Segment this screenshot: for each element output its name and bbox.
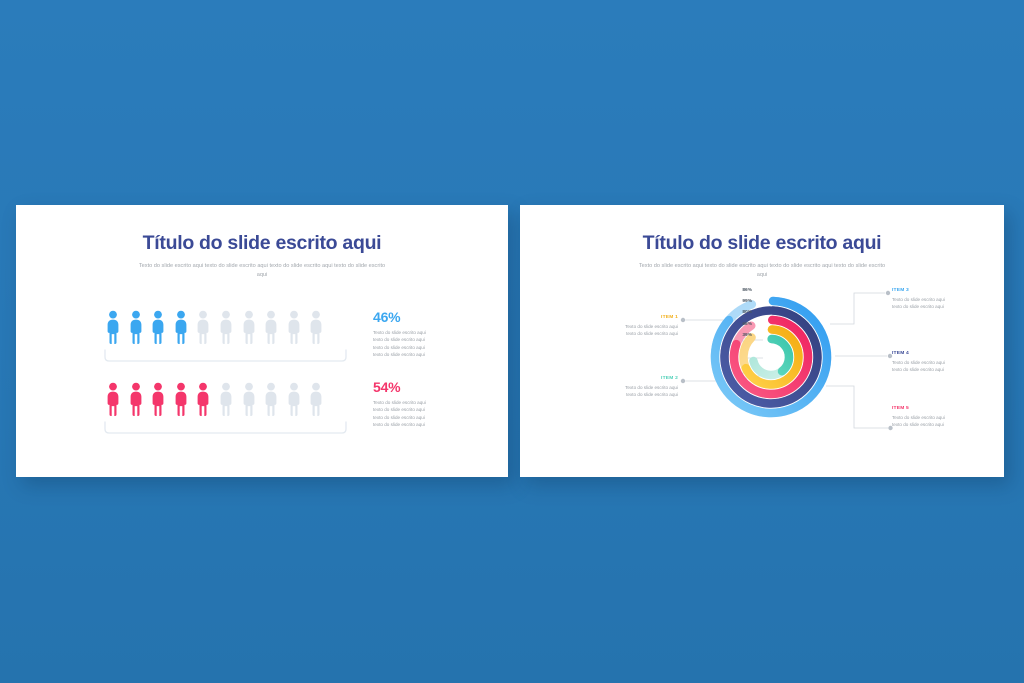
- stat-percent: 46%: [373, 310, 426, 324]
- person-icon: [262, 379, 280, 419]
- page-subtitle: Texto do slide escrito aqui texto do sli…: [637, 262, 887, 279]
- page-title: Título do slide escrito aqui: [520, 232, 1004, 255]
- person-icon: [240, 307, 258, 347]
- stat-description: Texto do slide escrito aqui texto do sli…: [373, 399, 426, 429]
- person-icon: [217, 307, 235, 347]
- person-icon: [149, 307, 167, 347]
- value-label: 39%: [730, 334, 752, 345]
- value-label-list: 86% 99% 80% 68% 39%: [730, 289, 752, 345]
- callout-item-1[interactable]: ITEM 1 Texto do slide escrito aqui texto…: [570, 315, 678, 338]
- person-icon: [104, 307, 122, 347]
- callout-title: ITEM 3: [892, 288, 1000, 293]
- page-subtitle: Texto do slide escrito aqui texto do sli…: [137, 262, 387, 279]
- person-icon: [194, 379, 212, 419]
- person-icon: [262, 307, 280, 347]
- row-bracket: [104, 421, 347, 434]
- people-row: [104, 305, 347, 347]
- stat-block-blue: 46% Texto do slide escrito aqui texto do…: [373, 310, 426, 359]
- callout-body: Texto do slide escrito aqui texto do sli…: [892, 296, 1000, 311]
- person-icon: [104, 379, 122, 419]
- person-icon: [194, 307, 212, 347]
- people-row: [104, 377, 347, 419]
- person-icon: [240, 379, 258, 419]
- callout-body: Texto do slide escrito aqui texto do sli…: [570, 323, 678, 338]
- callout-title: ITEM 2: [570, 376, 678, 381]
- callout-body: Texto do slide escrito aqui texto do sli…: [892, 414, 1000, 429]
- callout-title: ITEM 4: [892, 351, 1000, 356]
- radial-bar-chart: [706, 279, 836, 434]
- stat-percent: 54%: [373, 380, 426, 394]
- callout-item-2[interactable]: ITEM 2 Texto do slide escrito aqui texto…: [570, 376, 678, 399]
- value-label: 80%: [730, 311, 752, 322]
- callout-item-4[interactable]: ITEM 4 Texto do slide escrito aqui texto…: [892, 351, 1000, 374]
- presentation-canvas: Título do slide escrito aqui Texto do sl…: [0, 0, 1024, 683]
- person-icon: [172, 379, 190, 419]
- person-icon: [127, 379, 145, 419]
- row-bracket: [104, 349, 347, 362]
- person-icon: [307, 307, 325, 347]
- stat-block-pink: 54% Texto do slide escrito aqui texto do…: [373, 380, 426, 429]
- leader-line-item-3: [830, 290, 892, 325]
- person-icon: [127, 307, 145, 347]
- callout-item-3[interactable]: ITEM 3 Texto do slide escrito aqui texto…: [892, 288, 1000, 311]
- person-icon: [217, 379, 235, 419]
- leader-line-item-4: [835, 353, 893, 359]
- page-title: Título do slide escrito aqui: [16, 232, 508, 255]
- person-icon: [172, 307, 190, 347]
- callout-title: ITEM 1: [570, 315, 678, 320]
- person-icon: [307, 379, 325, 419]
- person-icon: [149, 379, 167, 419]
- person-icon: [285, 307, 303, 347]
- callout-item-5[interactable]: ITEM 5 Texto do slide escrito aqui texto…: [892, 406, 1000, 429]
- slide-people-infographic[interactable]: Título do slide escrito aqui Texto do sl…: [16, 205, 508, 477]
- person-icon: [285, 379, 303, 419]
- callout-body: Texto do slide escrito aqui texto do sli…: [892, 359, 1000, 374]
- people-row-blue-group: [104, 305, 347, 362]
- slide-radial-chart[interactable]: Título do slide escrito aqui Texto do sl…: [520, 205, 1004, 477]
- callout-title: ITEM 5: [892, 406, 1000, 411]
- leader-line-item-5: [826, 383, 894, 431]
- callout-body: Texto do slide escrito aqui texto do sli…: [570, 384, 678, 399]
- stat-description: Texto do slide escrito aqui texto do sli…: [373, 329, 426, 359]
- people-row-pink-group: [104, 377, 347, 434]
